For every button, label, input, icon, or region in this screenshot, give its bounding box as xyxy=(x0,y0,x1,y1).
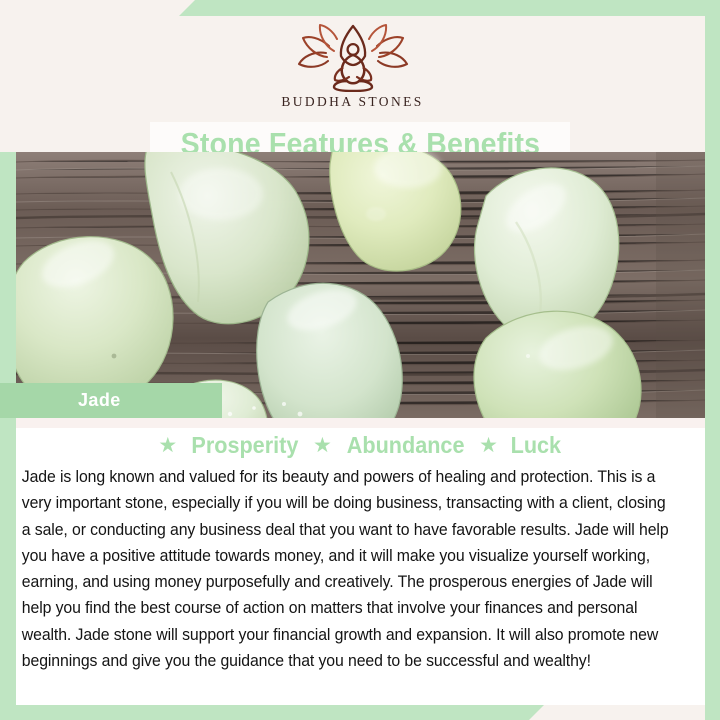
jade-stones-image xyxy=(16,152,705,418)
stone-name-label: Jade xyxy=(78,390,121,411)
header: BUDDHA STONES Stone Features & Benefits xyxy=(0,16,705,152)
panel-top-strip xyxy=(16,418,705,428)
benefit-luck: Luck xyxy=(511,432,561,459)
brand-logo: BUDDHA STONES xyxy=(0,24,705,110)
stone-name-tag: Jade xyxy=(0,383,222,418)
description-text: Jade is long known and valued for its be… xyxy=(16,464,681,674)
description-panel: ★ Prosperity ★ Abundance ★ Luck Jade is … xyxy=(16,418,705,705)
star-icon: ★ xyxy=(313,435,332,456)
decorative-left-bar xyxy=(0,152,16,705)
decorative-bottom-bar xyxy=(0,704,720,720)
decorative-top-bar xyxy=(0,0,720,16)
star-icon: ★ xyxy=(158,435,177,456)
lotus-meditation-icon xyxy=(293,24,413,92)
benefits-list: ★ Prosperity ★ Abundance ★ Luck xyxy=(16,432,705,459)
benefit-prosperity: Prosperity xyxy=(192,432,299,459)
stone-photo xyxy=(16,152,705,418)
decorative-right-bar xyxy=(705,0,720,720)
benefit-abundance: Abundance xyxy=(347,432,465,459)
star-icon: ★ xyxy=(479,435,498,456)
infographic-page: BUDDHA STONES Stone Features & Benefits xyxy=(0,0,720,720)
brand-name: BUDDHA STONES xyxy=(281,94,423,110)
